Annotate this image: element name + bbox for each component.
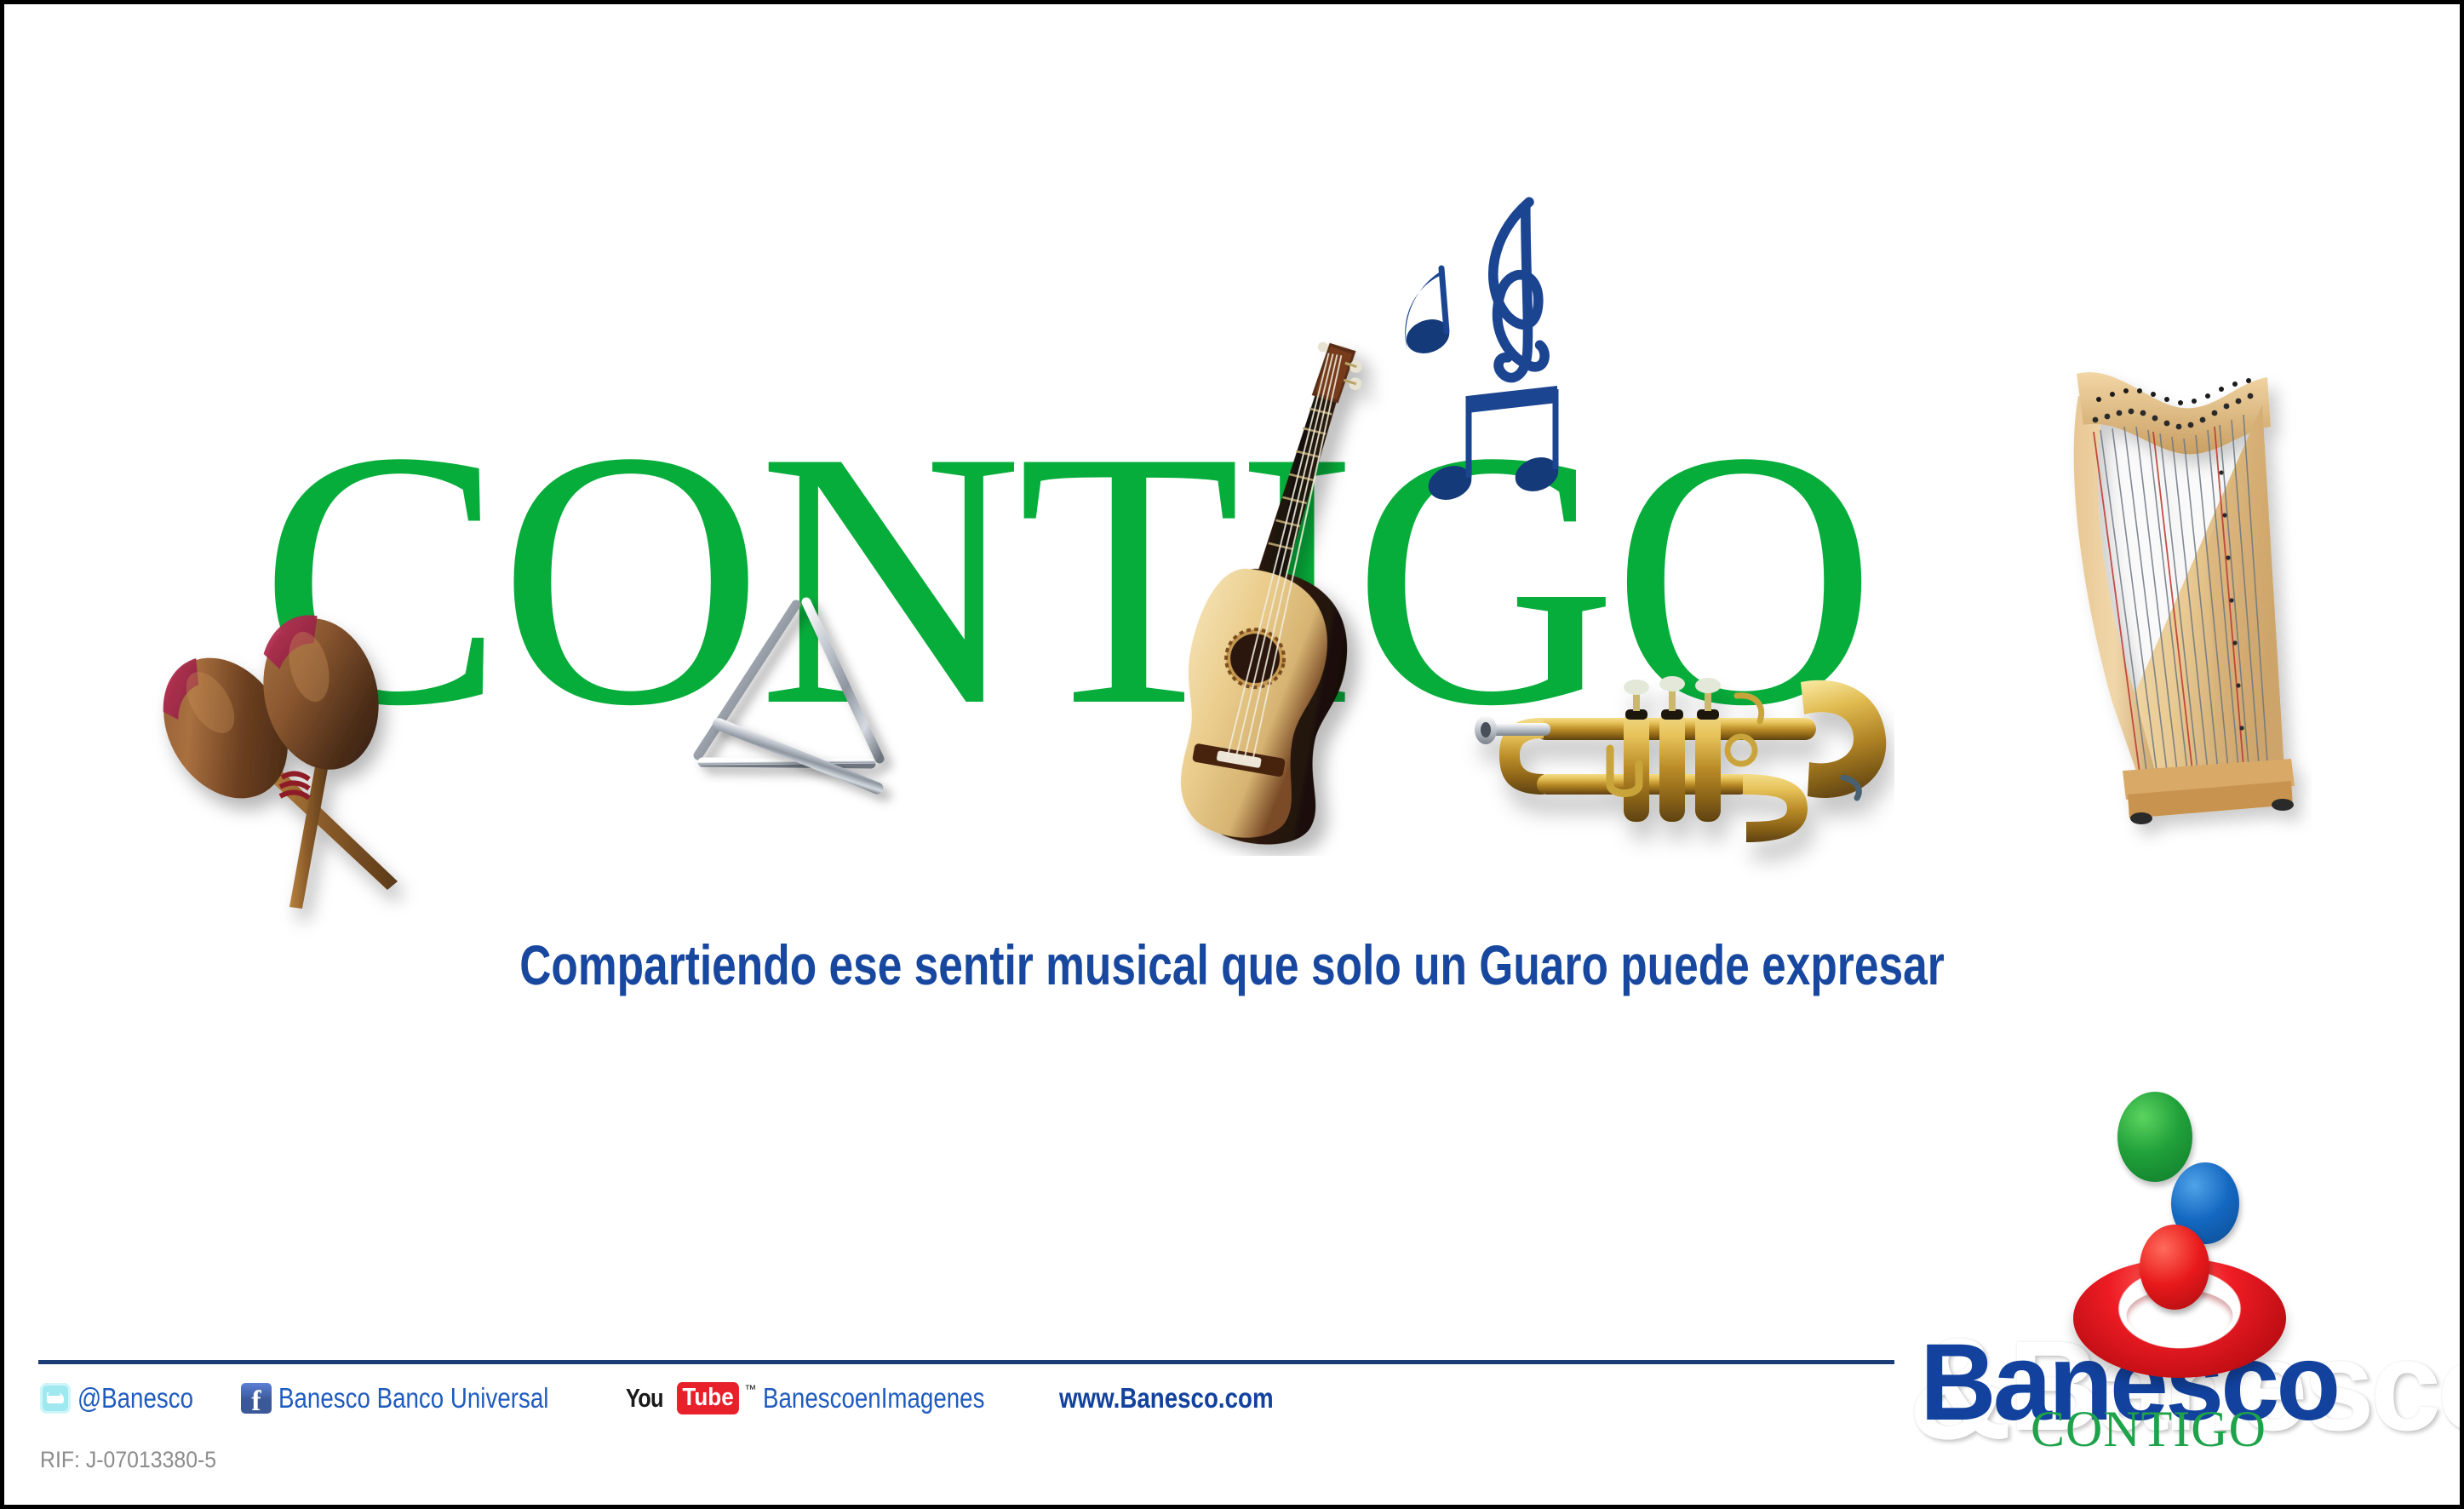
twitter-icon[interactable] (40, 1383, 71, 1414)
triangle-instrument (660, 558, 941, 847)
facebook-page-name: Banesco Banco Universal (278, 1382, 548, 1414)
twitter-handle: @Banesco (77, 1382, 193, 1414)
youtube-icon[interactable]: You Tube ™ (626, 1382, 756, 1414)
rif-number: RIF: J-07013380-5 (40, 1447, 216, 1473)
trumpet-instrument (1443, 660, 1894, 907)
red-sphere-icon (2140, 1225, 2209, 1310)
footer-divider (38, 1360, 1894, 1364)
harp-instrument (2039, 345, 2312, 881)
youtube-trademark: ™ (744, 1382, 756, 1396)
youtube-channel-name: BanescoenImagenes (763, 1382, 984, 1414)
beamed-eighth-notes-icon (1424, 386, 1563, 506)
music-notes-decoration (1375, 175, 1733, 515)
website-url: www.Banesco.com (1059, 1382, 1274, 1414)
banesco-logo: Banesco CONTIGO (1920, 1073, 2431, 1439)
social-link-twitter[interactable]: @Banesco (40, 1382, 215, 1414)
website-link[interactable]: www.Banesco.com (1052, 1382, 1315, 1414)
tagline: Compartiendo ese sentir musical que solo… (274, 932, 2190, 997)
youtube-you-text: You (626, 1383, 663, 1414)
green-sphere-icon (2117, 1092, 2192, 1182)
social-link-youtube[interactable]: You Tube ™ BanescoenImagenes (626, 1382, 1027, 1414)
poster-canvas: CONTIGO (0, 0, 2464, 1509)
maracas-instrument (132, 600, 456, 941)
treble-clef-icon (1493, 202, 1544, 377)
facebook-icon[interactable]: f (241, 1383, 272, 1414)
social-links-row: @Banesco f Banesco Banco Universal You T… (40, 1382, 1340, 1414)
social-link-facebook[interactable]: f Banesco Banco Universal (241, 1382, 600, 1414)
youtube-tube-badge: Tube (677, 1382, 739, 1414)
facebook-glyph: f (241, 1387, 272, 1416)
eighth-note-icon (1401, 268, 1454, 359)
logo-slogan: CONTIGO (2031, 1403, 2464, 1454)
